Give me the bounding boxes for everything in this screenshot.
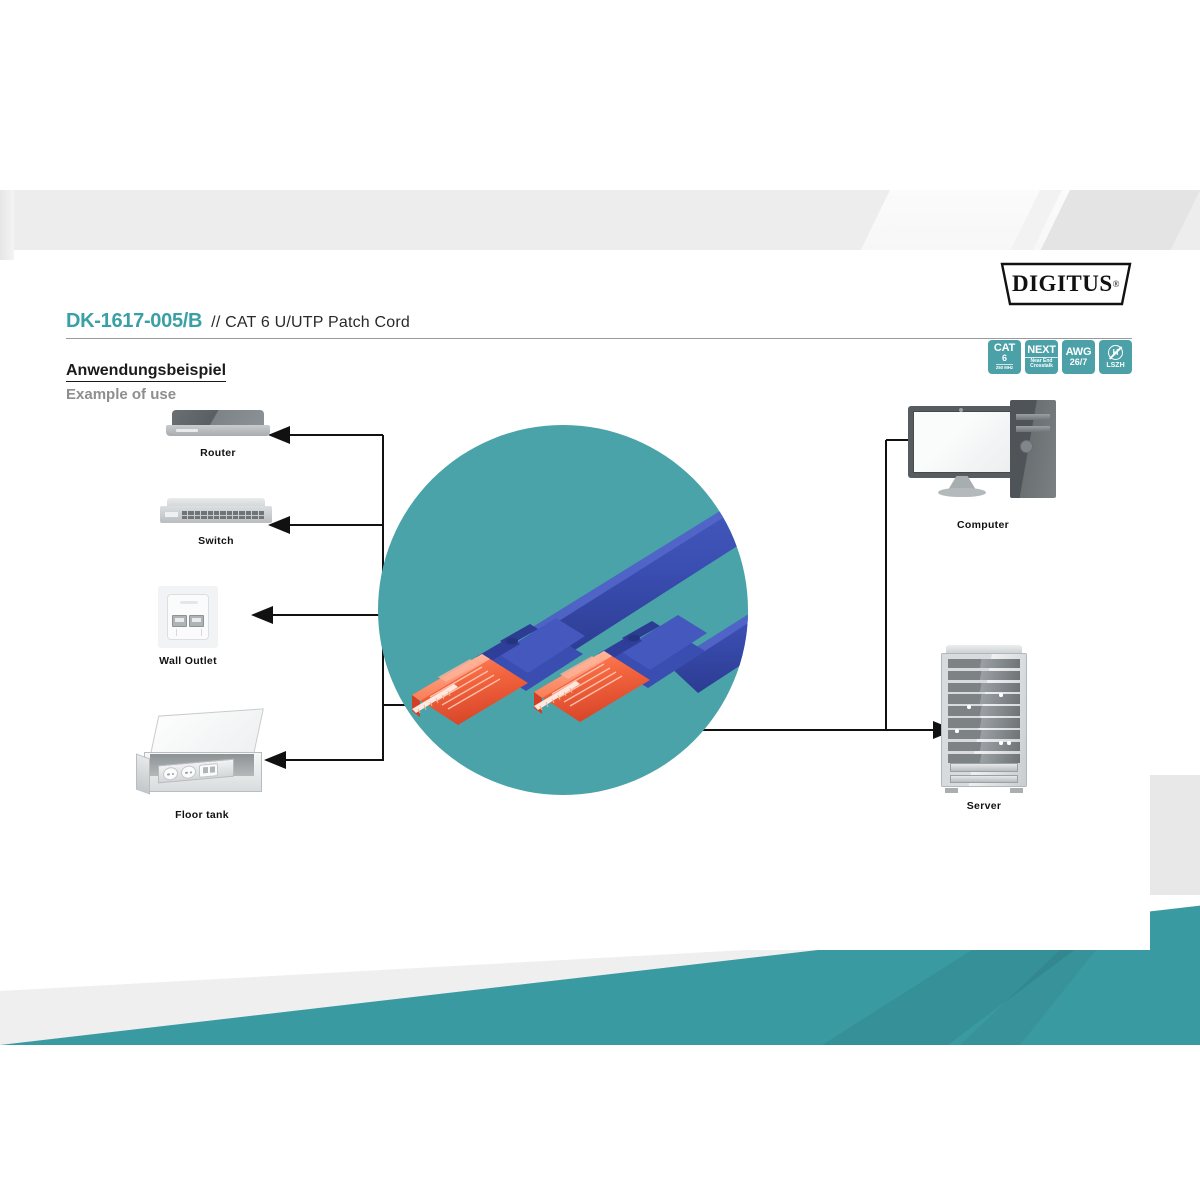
node-switch[interactable]: Switch bbox=[160, 498, 272, 547]
application-diagram: Router Switch bbox=[48, 400, 1150, 950]
node-server[interactable]: Server bbox=[941, 645, 1027, 812]
no-halogen-icon: H bbox=[1108, 345, 1123, 360]
logo-wordmark: DIGITUS® bbox=[1000, 260, 1132, 308]
cat6-badge-sub: 6 bbox=[1002, 354, 1007, 363]
wall-outlet-icon bbox=[158, 586, 218, 648]
next-badge-sub: Near End Crosstalk bbox=[1025, 357, 1058, 369]
next-badge: NEXT Near End Crosstalk bbox=[1025, 340, 1058, 374]
awg-badge: AWG 26/7 bbox=[1062, 340, 1095, 374]
product-description: // CAT 6 U/UTP Patch Cord bbox=[211, 314, 410, 332]
lszh-badge-label: LSZH bbox=[1106, 362, 1124, 369]
switch-label: Switch bbox=[198, 535, 234, 547]
patch-cord-illustration bbox=[378, 425, 748, 795]
node-computer[interactable]: Computer bbox=[908, 400, 1058, 531]
logo-registered-mark: ® bbox=[1113, 279, 1120, 289]
node-floor-tank[interactable]: Floor tank bbox=[136, 712, 268, 821]
header-row: DK-1617-005/B // CAT 6 U/UTP Patch Cord bbox=[66, 310, 1132, 338]
cat6-badge-frequency: 250 MHz bbox=[996, 364, 1013, 370]
switch-icon bbox=[160, 498, 272, 528]
server-icon bbox=[941, 645, 1027, 793]
header: DK-1617-005/B // CAT 6 U/UTP Patch Cord bbox=[66, 310, 1132, 339]
router-label: Router bbox=[200, 447, 236, 459]
floor-tank-icon bbox=[136, 712, 268, 802]
awg-badge-sub: 26/7 bbox=[1070, 358, 1088, 367]
header-divider bbox=[66, 338, 1132, 339]
cat6-badge: CAT 6 250 MHz bbox=[988, 340, 1021, 374]
product-hero bbox=[378, 425, 748, 795]
product-sheet-page: DIGITUS® DK-1617-005/B // CAT 6 U/UTP Pa… bbox=[0, 0, 1200, 1200]
wire-to-floor-tank bbox=[266, 705, 383, 760]
lszh-badge: H LSZH bbox=[1099, 340, 1132, 374]
section-heading: Anwendungsbeispiel Example of use bbox=[66, 362, 226, 403]
next-badge-main: NEXT bbox=[1027, 345, 1056, 356]
section-title-de: Anwendungsbeispiel bbox=[66, 362, 226, 382]
computer-label: Computer bbox=[957, 519, 1009, 531]
switch-ports bbox=[182, 511, 264, 519]
left-edge-shade bbox=[0, 190, 14, 260]
router-icon bbox=[166, 410, 270, 440]
digitus-logo: DIGITUS® bbox=[1000, 260, 1132, 308]
wall-outlet-label: Wall Outlet bbox=[159, 655, 217, 667]
floor-tank-label: Floor tank bbox=[175, 809, 229, 821]
node-router[interactable]: Router bbox=[166, 410, 270, 459]
connector-left bbox=[412, 618, 585, 725]
content-panel: DIGITUS® DK-1617-005/B // CAT 6 U/UTP Pa… bbox=[48, 250, 1150, 950]
server-label: Server bbox=[967, 800, 1002, 812]
node-wall-outlet[interactable]: Wall Outlet bbox=[158, 586, 218, 667]
feature-badges: CAT 6 250 MHz NEXT Near End Crosstalk AW… bbox=[988, 340, 1132, 374]
product-sku: DK-1617-005/B bbox=[66, 310, 202, 333]
computer-icon bbox=[908, 400, 1058, 512]
logo-text: DIGITUS bbox=[1012, 271, 1113, 297]
